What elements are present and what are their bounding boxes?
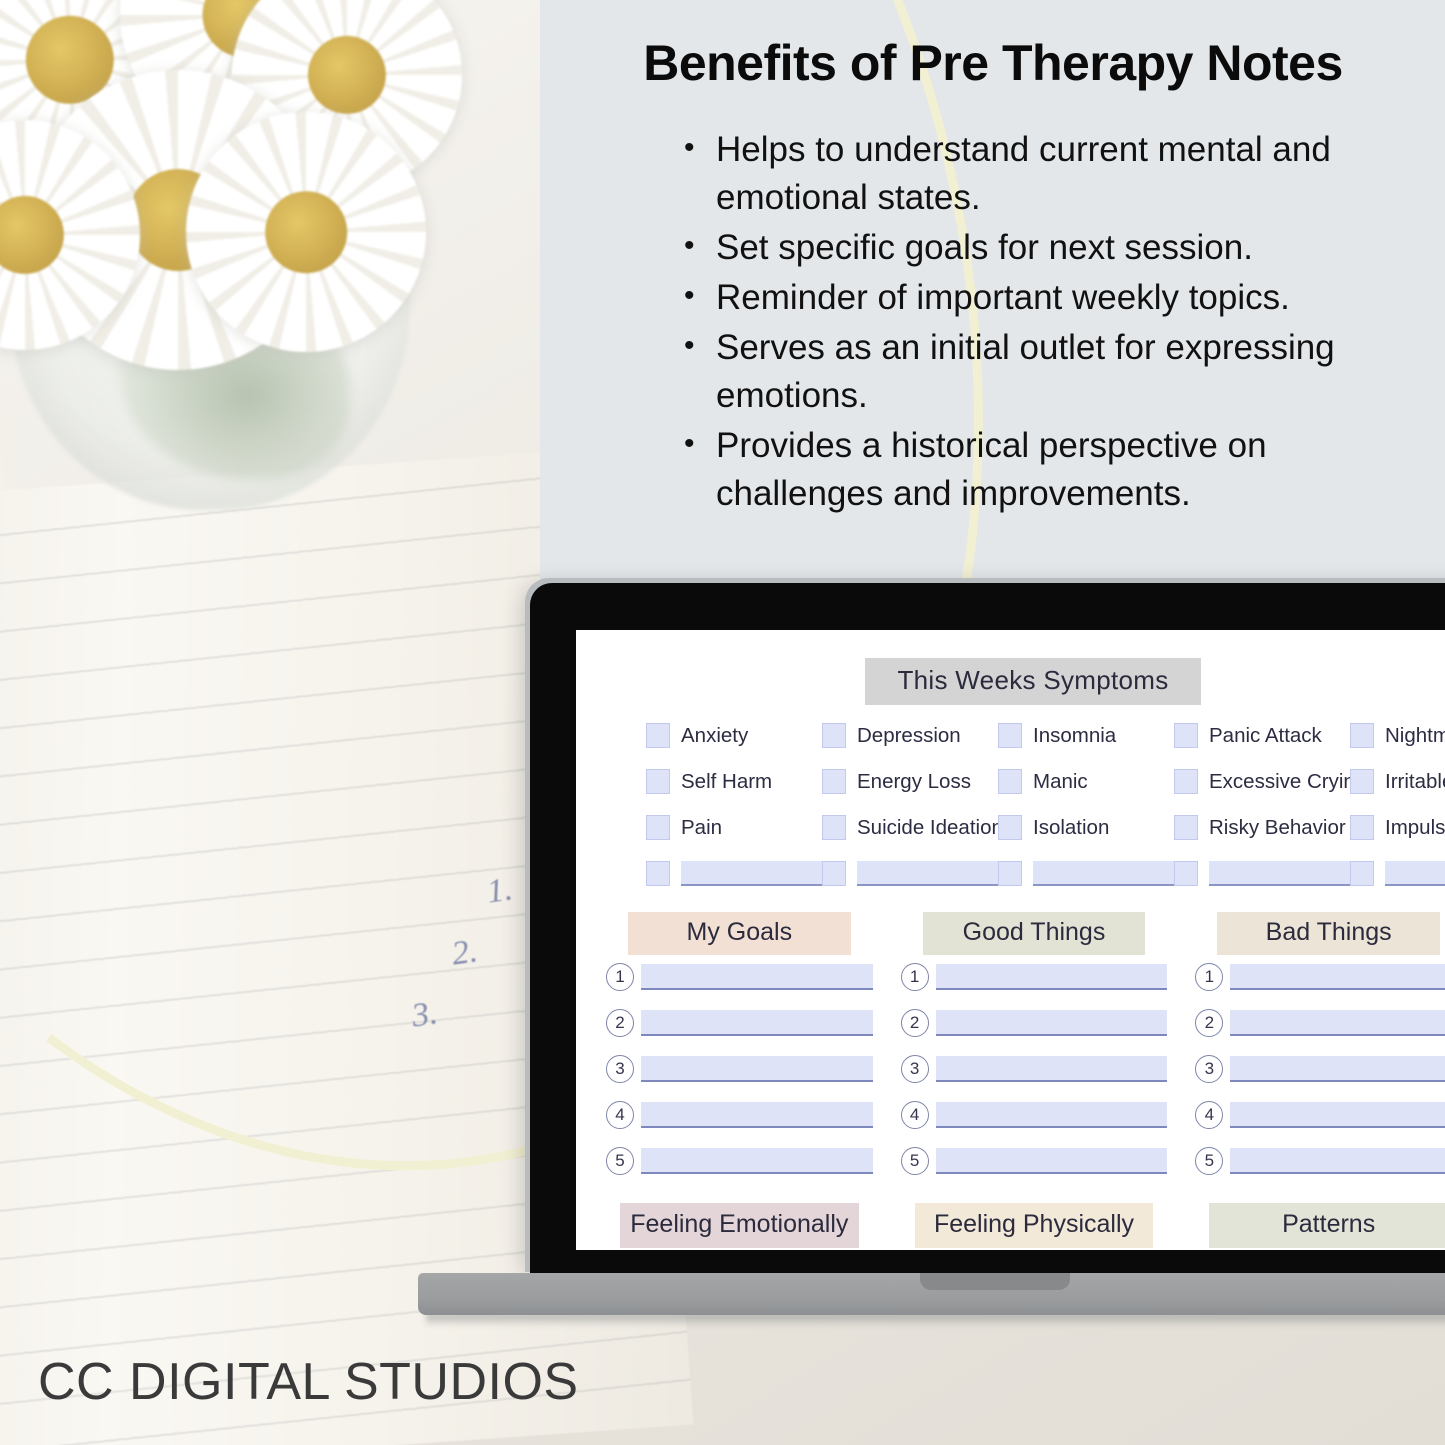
symptoms-checkbox-grid: Anxiety Depression Insomnia Panic Attack… [646,723,1445,886]
checkbox-icon[interactable] [822,769,846,794]
list-item[interactable]: 3 [1195,1055,1445,1083]
list-item[interactable]: 4 [901,1101,1168,1129]
column-good-things: Good Things 1 2 3 4 5 [901,912,1168,1193]
therapy-worksheet: This Weeks Symptoms Anxiety Depression I… [576,630,1445,1250]
checkbox-icon[interactable] [822,815,846,840]
row-number: 4 [606,1101,634,1129]
symptom-label: Suicide Ideation [857,816,1003,840]
benefits-list: Helps to understand current mental and e… [676,126,1436,520]
daisy-center [265,191,347,273]
custom-symptom-item[interactable] [1350,861,1445,886]
footer-section-titles: Feeling Emotionally Feeling Physically P… [576,1203,1445,1248]
symptoms-section-title: This Weeks Symptoms [865,658,1201,705]
checkbox-icon[interactable] [822,723,846,748]
good-thing-input[interactable] [936,1148,1168,1174]
row-number: 4 [901,1101,929,1129]
checkbox-icon[interactable] [1350,861,1374,886]
symptom-label: Risky Behavior [1209,816,1346,840]
checkbox-icon[interactable] [1174,769,1198,794]
column-title: Good Things [923,912,1146,955]
symptom-item[interactable]: Isolation [998,815,1174,840]
symptom-item[interactable]: Anxiety [646,723,822,748]
row-number: 1 [901,963,929,991]
custom-symptom-item[interactable] [646,861,822,886]
column-rows: 1 2 3 4 5 [901,963,1168,1175]
goal-input[interactable] [641,1102,873,1128]
list-item[interactable]: 5 [606,1147,873,1175]
checkbox-icon[interactable] [1174,815,1198,840]
list-item: Serves as an initial outlet for expressi… [676,324,1436,420]
checkbox-icon[interactable] [998,815,1022,840]
symptom-item[interactable]: Self Harm [646,769,822,794]
checkbox-icon[interactable] [1350,723,1374,748]
laptop-screen: This Weeks Symptoms Anxiety Depression I… [576,630,1445,1250]
three-column-section: My Goals 1 2 3 4 5 Good Things 1 [576,912,1445,1193]
symptom-label: Panic Attack [1209,724,1322,748]
symptom-item[interactable]: Risky Behavior [1174,815,1350,840]
row-number: 3 [901,1055,929,1083]
list-item: Reminder of important weekly topics. [676,274,1436,322]
checkbox-icon[interactable] [1350,769,1374,794]
checkbox-icon[interactable] [646,861,670,886]
bad-thing-input[interactable] [1230,1010,1445,1036]
checkbox-icon[interactable] [998,861,1022,886]
laptop-base-shadow [426,1313,1445,1327]
good-thing-input[interactable] [936,1010,1168,1036]
symptom-label: Energy Loss [857,770,971,794]
symptom-item[interactable]: Panic Attack [1174,723,1350,748]
handwritten-number-1: 1. [484,870,515,911]
bad-thing-input[interactable] [1230,1102,1445,1128]
list-item[interactable]: 4 [1195,1101,1445,1129]
symptom-label: Anxiety [681,724,748,748]
symptom-item[interactable]: Impulsiv [1350,815,1445,840]
checkbox-icon[interactable] [998,769,1022,794]
daisy-flower [0,120,140,350]
brand-watermark: CC DIGITAL STUDIOS [38,1352,579,1412]
custom-symptom-input[interactable] [857,861,998,886]
symptom-label: Insomnia [1033,724,1116,748]
list-item[interactable]: 4 [606,1101,873,1129]
row-number: 4 [1195,1101,1223,1129]
row-number: 5 [606,1147,634,1175]
checkbox-icon[interactable] [822,861,846,886]
checkbox-icon[interactable] [998,723,1022,748]
daisy-flower [186,112,426,352]
custom-symptom-item[interactable] [998,861,1174,886]
symptom-label: Depression [857,724,961,748]
checkbox-icon[interactable] [646,815,670,840]
list-item[interactable]: 3 [606,1055,873,1083]
list-item[interactable]: 1 [901,963,1168,991]
list-item: Set specific goals for next session. [676,224,1436,272]
symptom-label: Excessive Crying [1209,770,1366,794]
symptom-item[interactable]: Nightma [1350,723,1445,748]
column-my-goals: My Goals 1 2 3 4 5 [606,912,873,1193]
row-number: 1 [606,963,634,991]
bad-thing-input[interactable] [1230,964,1445,990]
symptom-label: Irritable [1385,770,1445,794]
list-item[interactable]: 1 [606,963,873,991]
column-title: My Goals [628,912,851,955]
row-number: 5 [1195,1147,1223,1175]
goal-input[interactable] [641,1010,873,1036]
column-bad-things: Bad Things 1 2 3 4 5 [1195,912,1445,1193]
poster-canvas: 1. 2. 3. Benefits of [0,0,1445,1445]
list-item[interactable]: 2 [901,1009,1168,1037]
custom-symptom-input[interactable] [681,861,822,886]
symptom-item[interactable]: Irritable [1350,769,1445,794]
custom-symptom-item[interactable] [822,861,998,886]
custom-symptom-input[interactable] [1209,861,1350,886]
list-item[interactable]: 2 [1195,1009,1445,1037]
row-number: 1 [1195,963,1223,991]
laptop-mockup: This Weeks Symptoms Anxiety Depression I… [530,583,1445,1283]
bad-thing-input[interactable] [1230,1056,1445,1082]
column-rows: 1 2 3 4 5 [1195,963,1445,1175]
symptom-label: Manic [1033,770,1088,794]
list-item[interactable]: 5 [1195,1147,1445,1175]
checkbox-icon[interactable] [1350,815,1374,840]
symptom-item[interactable]: Energy Loss [822,769,998,794]
symptom-item[interactable]: Suicide Ideation [822,815,998,840]
bad-thing-input[interactable] [1230,1148,1445,1174]
symptom-item[interactable]: Depression [822,723,998,748]
handwritten-number-2: 2. [449,932,480,973]
section-title-feeling-emotionally: Feeling Emotionally [620,1203,859,1248]
custom-symptom-input[interactable] [1033,861,1174,886]
goal-input[interactable] [641,1056,873,1082]
custom-symptom-input[interactable] [1385,861,1445,886]
checkbox-icon[interactable] [646,769,670,794]
checkbox-icon[interactable] [646,723,670,748]
list-item[interactable]: 5 [901,1147,1168,1175]
symptom-item[interactable]: Pain [646,815,822,840]
symptom-item[interactable]: Excessive Crying [1174,769,1350,794]
page-title: Benefits of Pre Therapy Notes [548,34,1438,92]
row-number: 3 [1195,1055,1223,1083]
section-title-feeling-physically: Feeling Physically [915,1203,1154,1248]
list-item: Provides a historical perspective on cha… [676,422,1436,518]
symptom-label: Impulsiv [1385,816,1445,840]
symptom-label: Isolation [1033,816,1109,840]
list-item[interactable]: 3 [901,1055,1168,1083]
list-item: Helps to understand current mental and e… [676,126,1436,222]
goal-input[interactable] [641,964,873,990]
row-number: 2 [606,1009,634,1037]
checkbox-icon[interactable] [1174,723,1198,748]
column-rows: 1 2 3 4 5 [606,963,873,1175]
row-number: 2 [901,1009,929,1037]
good-thing-input[interactable] [936,1102,1168,1128]
symptom-label: Self Harm [681,770,772,794]
handwritten-number-3: 3. [409,994,440,1035]
checkbox-icon[interactable] [1174,861,1198,886]
section-title-patterns: Patterns [1209,1203,1445,1248]
row-number: 3 [606,1055,634,1083]
column-title: Bad Things [1217,912,1440,955]
good-thing-input[interactable] [936,1056,1168,1082]
symptom-item[interactable]: Insomnia [998,723,1174,748]
good-thing-input[interactable] [936,964,1168,990]
row-number: 2 [1195,1009,1223,1037]
list-item[interactable]: 2 [606,1009,873,1037]
laptop-base [418,1273,1445,1315]
symptom-label: Nightma [1385,724,1445,748]
symptom-item[interactable]: Manic [998,769,1174,794]
goal-input[interactable] [641,1148,873,1174]
row-number: 5 [901,1147,929,1175]
symptom-label: Pain [681,816,722,840]
custom-symptom-item[interactable] [1174,861,1350,886]
list-item[interactable]: 1 [1195,963,1445,991]
